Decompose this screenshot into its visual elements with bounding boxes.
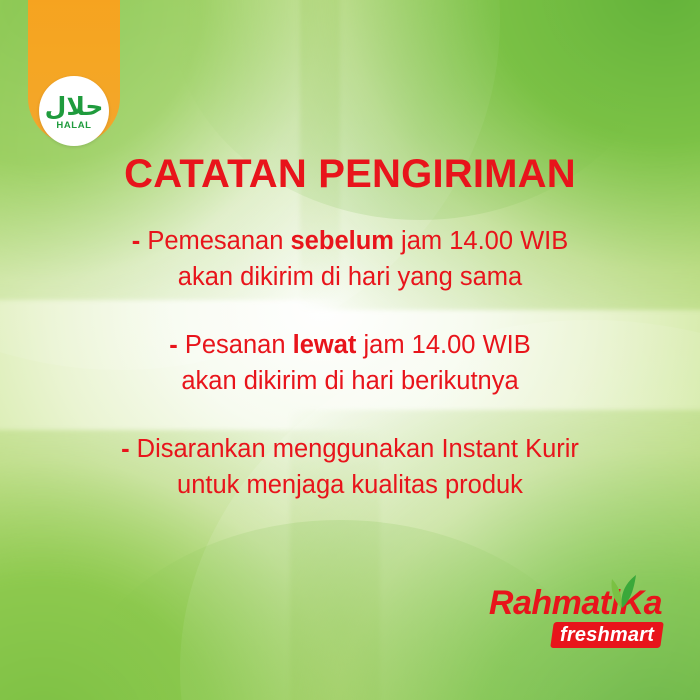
brand-tagline-text: freshmart (560, 622, 654, 648)
note-line1-part1: Pesanan (185, 331, 293, 359)
note-dash: - (169, 331, 178, 359)
note-line2: untuk menjaga kualitas produk (121, 467, 579, 503)
note-line1-part1: Disarankan menggunakan (137, 435, 442, 463)
note-dash: - (132, 227, 141, 255)
brand-logo: RahmatiKa freshmart (462, 586, 662, 648)
note-line2: akan dikirim di hari yang sama (132, 259, 569, 295)
note-item: - Disarankan menggunakan Instant Kurir u… (121, 431, 579, 503)
note-item: - Pemesanan sebelum jam 14.00 WIB akan d… (132, 223, 569, 295)
brand-tagline: freshmart (550, 622, 664, 648)
note-line1-part2: sebelum (291, 227, 402, 255)
note-line1-part3: jam 14.00 WIB (401, 227, 568, 255)
notes-list: - Pemesanan sebelum jam 14.00 WIB akan d… (30, 223, 670, 523)
note-dash: - (121, 435, 130, 463)
page-title: CATATAN PENGIRIMAN (124, 152, 576, 197)
note-line2: akan dikirim di hari berikutnya (169, 363, 530, 399)
note-line1-part3: jam 14.00 WIB (364, 331, 531, 359)
leaf-icon (600, 570, 644, 610)
promo-poster: حلال HALAL CATATAN PENGIRIMAN - Pemesana… (0, 0, 700, 700)
note-line1-part3: Instant Kurir (441, 435, 578, 463)
note-line1-part2: lewat (293, 331, 364, 359)
note-item: - Pesanan lewat jam 14.00 WIB akan dikir… (169, 327, 530, 399)
note-line1-part1: Pemesanan (147, 227, 290, 255)
